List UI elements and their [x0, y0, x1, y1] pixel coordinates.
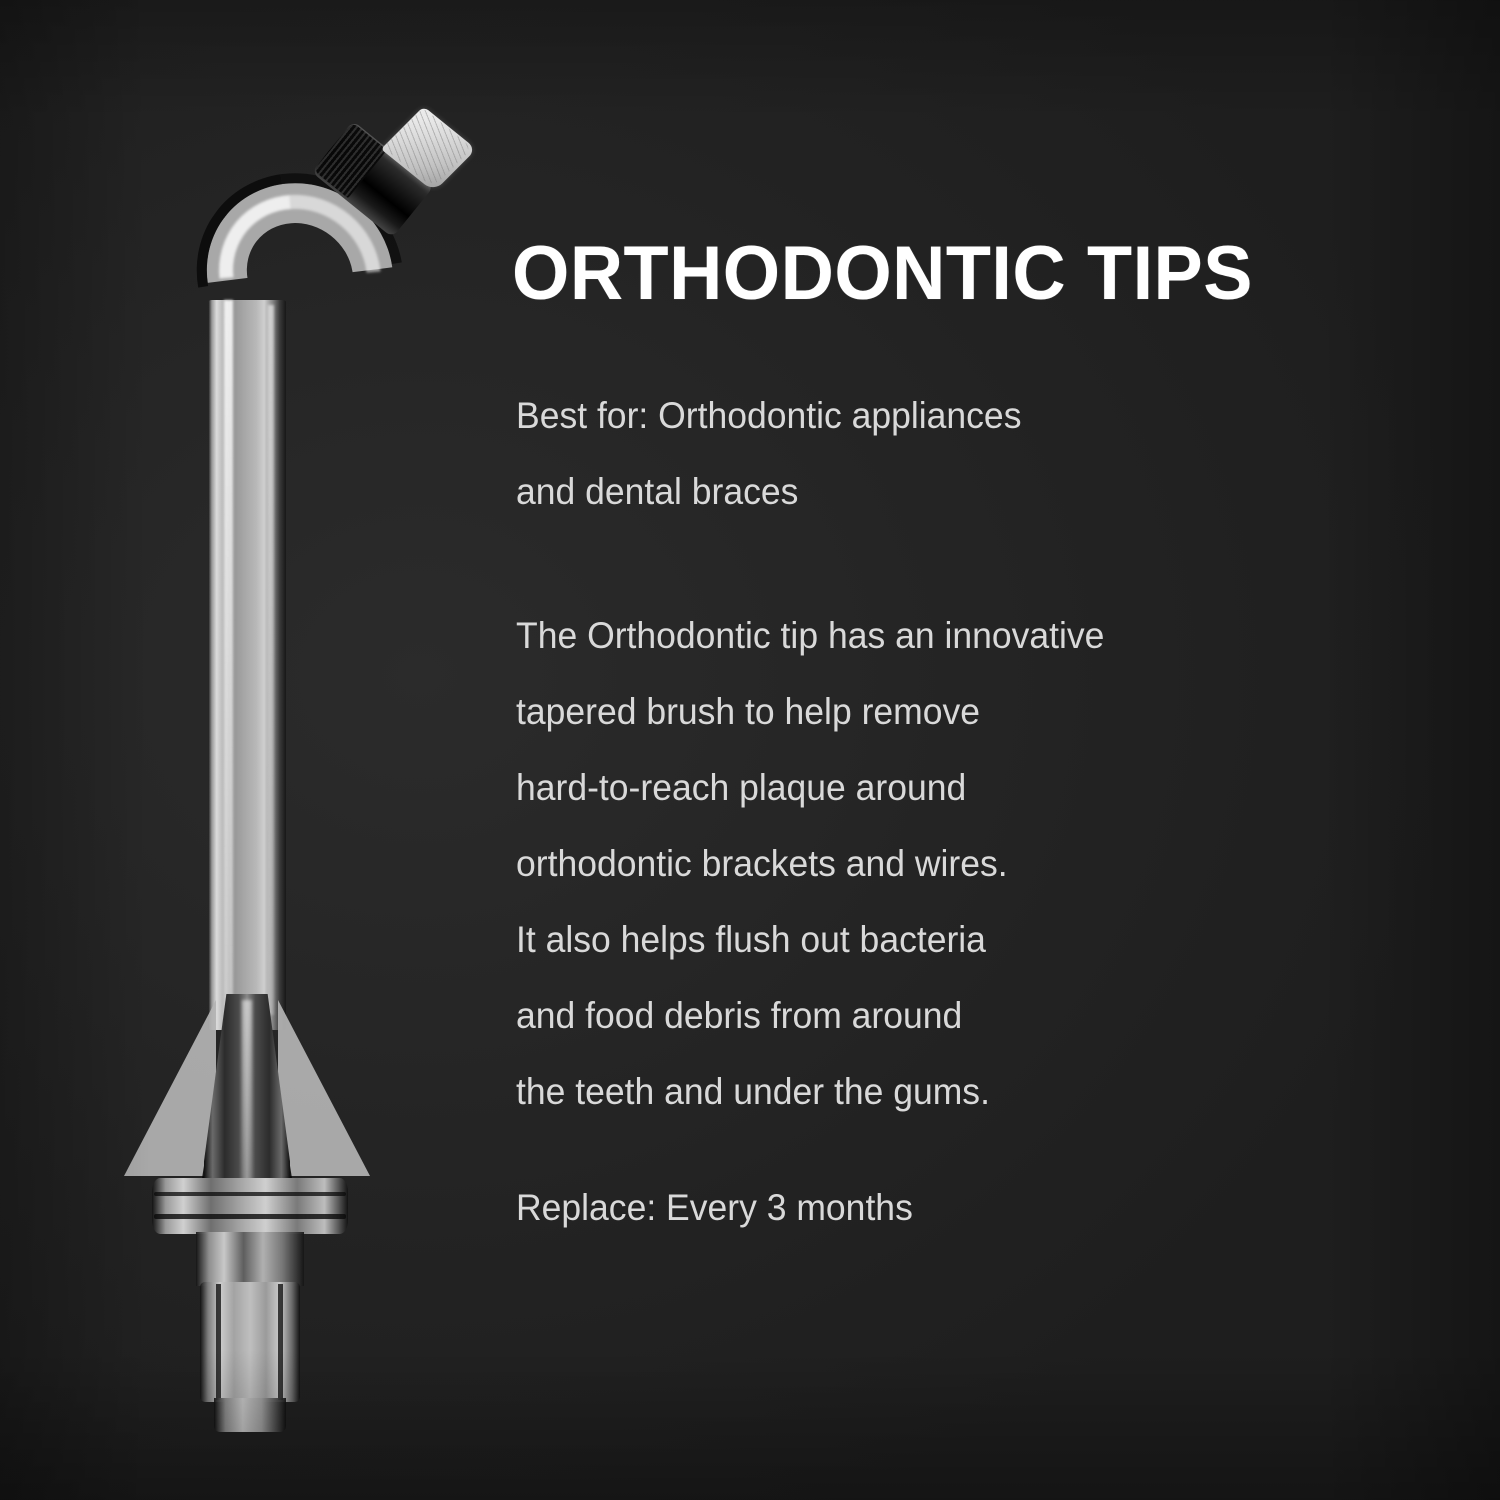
fin-right — [278, 1000, 370, 1176]
replace-note: Replace: Every 3 months — [516, 1183, 913, 1233]
connector-neck — [196, 1232, 304, 1286]
disc-groove-upper — [154, 1192, 346, 1196]
best-for-line-2: and dental braces — [516, 454, 1021, 530]
description-line-5: It also helps flush out bacteria — [516, 902, 1104, 978]
description-line-4: orthodontic brackets and wires. — [516, 826, 1104, 902]
fin-core-highlight — [242, 1000, 252, 1186]
description-line-6: and food debris from around — [516, 978, 1104, 1054]
text-column: ORTHODONTIC TIPS Best for: Orthodontic a… — [512, 0, 1452, 1500]
product-illustration — [0, 0, 500, 1500]
description-line-1: The Orthodontic tip has an innovative — [516, 598, 1104, 674]
fin-base — [118, 1000, 376, 1192]
description-block: The Orthodontic tip has an innovative ta… — [516, 598, 1104, 1130]
product-infographic: ORTHODONTIC TIPS Best for: Orthodontic a… — [0, 0, 1500, 1500]
shaft-highlight-secondary — [268, 305, 274, 1015]
description-line-7: the teeth and under the gums. — [516, 1054, 1104, 1130]
connector-foot — [214, 1398, 286, 1432]
connector-facet-left — [216, 1284, 221, 1400]
page-title: ORTHODONTIC TIPS — [512, 232, 1253, 316]
connector-body — [200, 1282, 300, 1402]
best-for-line-1: Best for: Orthodontic appliances — [516, 378, 1021, 454]
description-line-3: hard-to-reach plaque around — [516, 750, 1104, 826]
ribbed-disc — [152, 1178, 348, 1234]
fin-left — [124, 1000, 216, 1176]
best-for-block: Best for: Orthodontic appliances and den… — [516, 378, 1021, 530]
connector-facet-right — [278, 1284, 283, 1400]
description-line-2: tapered brush to help remove — [516, 674, 1104, 750]
disc-groove-lower — [154, 1214, 346, 1219]
